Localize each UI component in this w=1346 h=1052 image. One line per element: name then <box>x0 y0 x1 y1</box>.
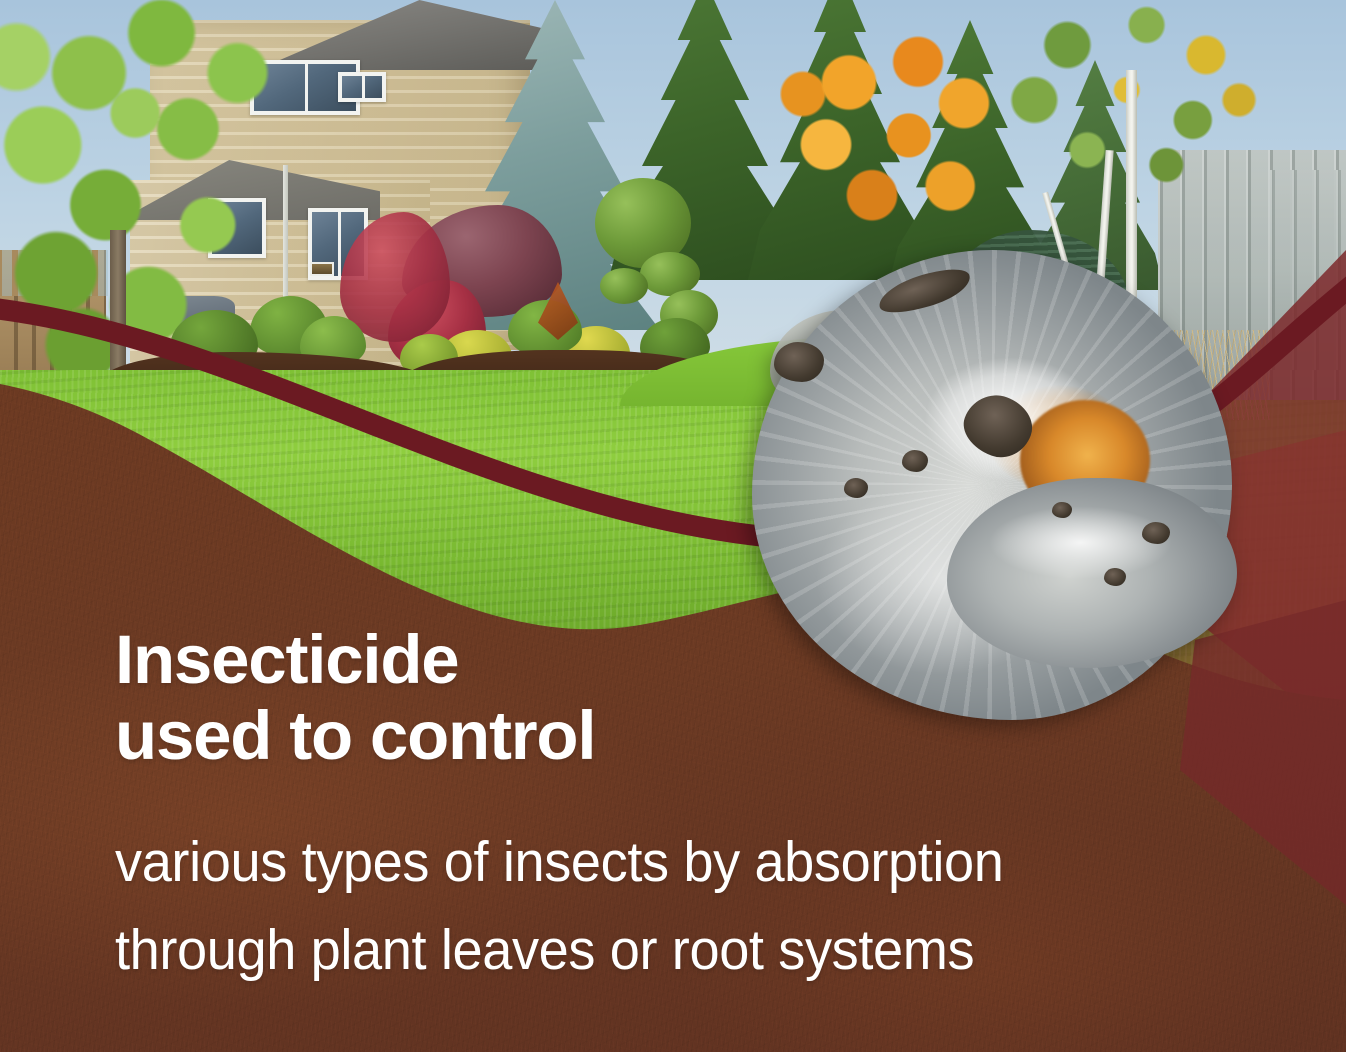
grub-dark-spot-tail-c <box>1052 502 1072 518</box>
grub-dark-spot-tail-a <box>1142 522 1170 544</box>
birch-canopy <box>975 0 1305 240</box>
grub-dark-spot-lower <box>844 478 868 498</box>
window-upper-small <box>338 72 386 102</box>
grub-dark-spot-left <box>774 342 824 382</box>
page-title: Insecticide used to control <box>115 622 595 774</box>
grub-dark-spot-tail-b <box>1104 568 1126 586</box>
topiary-sphere-small <box>600 268 648 304</box>
insecticide-poster: Insecticide used to control various type… <box>0 0 1346 1052</box>
description-text: various types of insects by absorption t… <box>115 818 1004 994</box>
grub-tail-segment <box>947 478 1237 668</box>
grub-dark-spot-mid <box>902 450 928 472</box>
tree-left-trunk <box>110 230 126 380</box>
white-grub-larva <box>752 250 1232 720</box>
